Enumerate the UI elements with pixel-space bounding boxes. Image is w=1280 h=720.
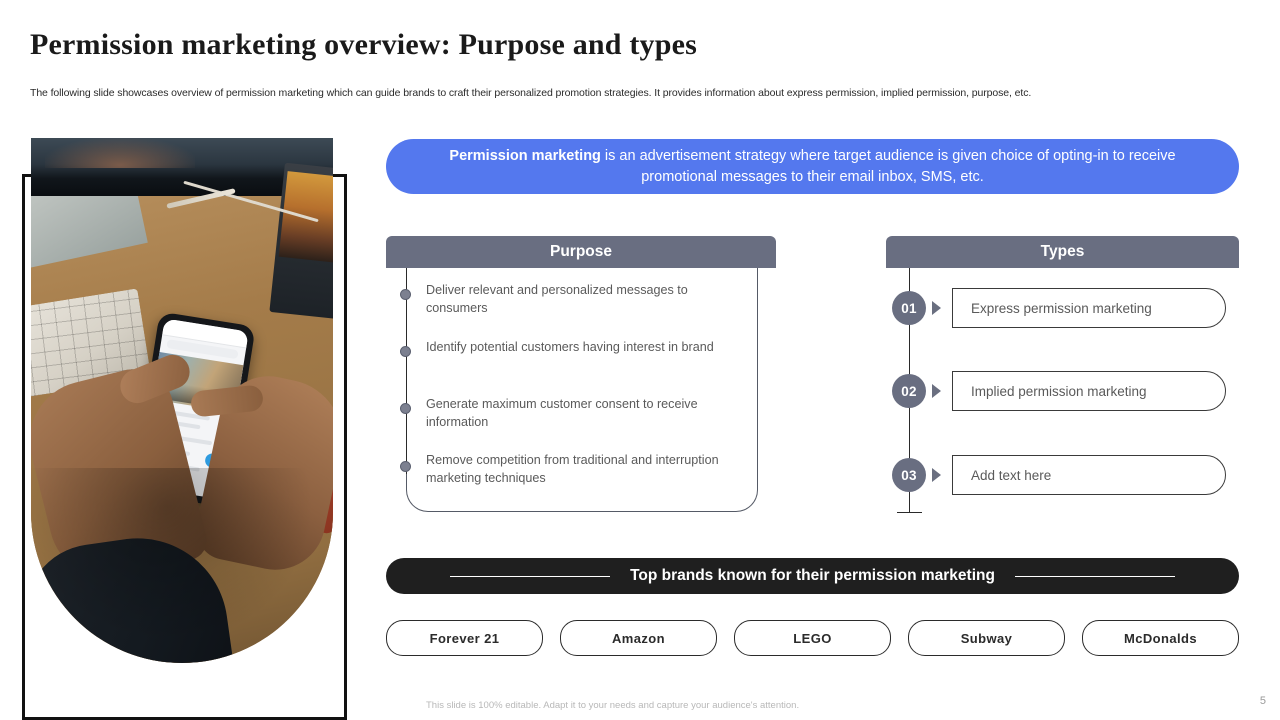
type-item-1[interactable]: Express permission marketing (952, 288, 1226, 328)
brand-pill-mcdonalds[interactable]: McDonalds (1082, 620, 1239, 656)
brand-pill-list: Forever 21 Amazon LEGO Subway McDonalds (386, 620, 1239, 656)
type-number-badge-2: 02 (892, 374, 926, 408)
types-heading-label: Types (1041, 243, 1085, 261)
purpose-item-3: Generate maximum customer consent to rec… (426, 395, 726, 431)
type-item-label: Express permission marketing (971, 301, 1152, 316)
purpose-section-header: Purpose (386, 236, 776, 268)
type-item-label: Implied permission marketing (971, 384, 1147, 399)
brand-pill-label: Subway (961, 631, 1013, 646)
intro-banner-text: is an advertisement strategy where targe… (601, 148, 1176, 185)
brand-pill-label: Forever 21 (430, 631, 500, 646)
type-number-label: 03 (901, 468, 917, 483)
banner-rule-right (1015, 576, 1175, 577)
brands-banner: Top brands known for their permission ma… (386, 558, 1239, 594)
purpose-item-1: Deliver relevant and personalized messag… (426, 281, 726, 317)
type-number-label: 01 (901, 301, 917, 316)
purpose-heading-label: Purpose (550, 243, 612, 261)
type-arrow-icon (932, 384, 941, 398)
brand-pill-amazon[interactable]: Amazon (560, 620, 717, 656)
page-number: 5 (1260, 695, 1266, 707)
banner-rule-left (450, 576, 610, 577)
brand-pill-subway[interactable]: Subway (908, 620, 1065, 656)
brand-pill-label: Amazon (612, 631, 665, 646)
intro-banner: Permission marketing is an advertisement… (386, 139, 1239, 194)
photo-shadow (31, 468, 333, 663)
brand-pill-label: LEGO (793, 631, 831, 646)
type-item-2[interactable]: Implied permission marketing (952, 371, 1226, 411)
purpose-bullet-dot (400, 461, 411, 472)
type-arrow-icon (932, 468, 941, 482)
brand-pill-forever21[interactable]: Forever 21 (386, 620, 543, 656)
type-number-badge-1: 01 (892, 291, 926, 325)
purpose-bullet-dot (400, 346, 411, 357)
type-arrow-icon (932, 301, 941, 315)
page-subtitle: The following slide showcases overview o… (30, 87, 1031, 99)
purpose-bullet-dot (400, 289, 411, 300)
photo-monitor-glow (45, 138, 195, 168)
type-item-label: Add text here (971, 468, 1051, 483)
type-number-label: 02 (901, 384, 917, 399)
purpose-bullet-dot (400, 403, 411, 414)
brands-banner-title: Top brands known for their permission ma… (630, 567, 995, 585)
desk-photo (31, 138, 333, 663)
image-panel (20, 138, 350, 720)
purpose-item-2: Identify potential customers having inte… (426, 338, 726, 356)
brand-pill-label: McDonalds (1124, 631, 1197, 646)
intro-banner-emphasis: Permission marketing (449, 148, 601, 164)
brand-pill-lego[interactable]: LEGO (734, 620, 891, 656)
type-item-3[interactable]: Add text here (952, 455, 1226, 495)
editable-note: This slide is 100% editable. Adapt it to… (426, 700, 799, 711)
types-timeline-end-tick (897, 512, 922, 513)
types-section-header: Types (886, 236, 1239, 268)
type-number-badge-3: 03 (892, 458, 926, 492)
purpose-item-4: Remove competition from traditional and … (426, 451, 726, 487)
page-title: Permission marketing overview: Purpose a… (30, 28, 697, 62)
